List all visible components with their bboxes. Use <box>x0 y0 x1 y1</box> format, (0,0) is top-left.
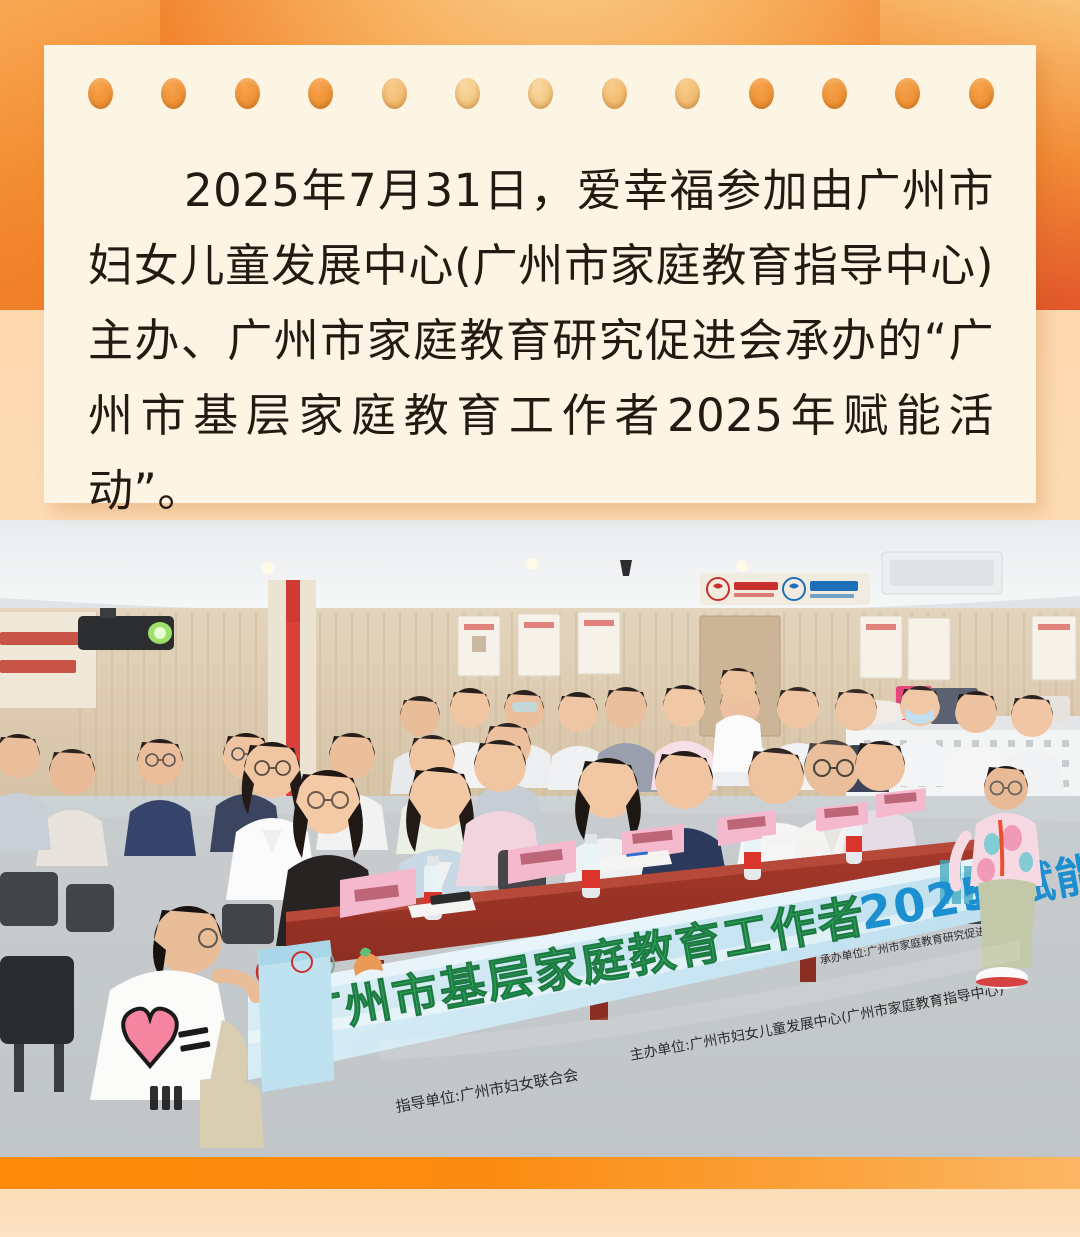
orange-dot-icon <box>675 78 700 109</box>
orange-dot-icon <box>822 78 847 109</box>
orange-dot-icon <box>308 78 333 109</box>
orange-dot-icon <box>528 78 553 109</box>
event-photograph: 广州市基层家庭教育工作者 2025 年赋能活动 指导单位:广州市妇女联合会 主办… <box>0 520 1080 1157</box>
orange-dot-icon <box>88 78 113 109</box>
event-paragraph: 2025年7月31日，爱幸福参加由广州市妇女儿童发展中心(广州市家庭教育指导中心… <box>88 153 994 528</box>
orange-dot-icon <box>235 78 260 109</box>
dot-decoration-row <box>88 78 994 109</box>
orange-dot-icon <box>602 78 627 109</box>
orange-dot-icon <box>455 78 480 109</box>
card-body: 2025年7月31日，爱幸福参加由广州市妇女儿童发展中心(广州市家庭教育指导中心… <box>88 153 994 528</box>
orange-dot-icon <box>969 78 994 109</box>
orange-dot-icon <box>161 78 186 109</box>
poster-root: 2025年7月31日，爱幸福参加由广州市妇女儿童发展中心(广州市家庭教育指导中心… <box>0 0 1080 1237</box>
bottom-peach-field <box>0 1189 1080 1237</box>
orange-dot-icon <box>382 78 407 109</box>
bottom-orange-stripe <box>0 1157 1080 1189</box>
text-card: 2025年7月31日，爱幸福参加由广州市妇女儿童发展中心(广州市家庭教育指导中心… <box>44 45 1036 503</box>
orange-dot-icon <box>895 78 920 109</box>
wall-sign-group <box>700 573 870 605</box>
orange-dot-icon <box>749 78 774 109</box>
